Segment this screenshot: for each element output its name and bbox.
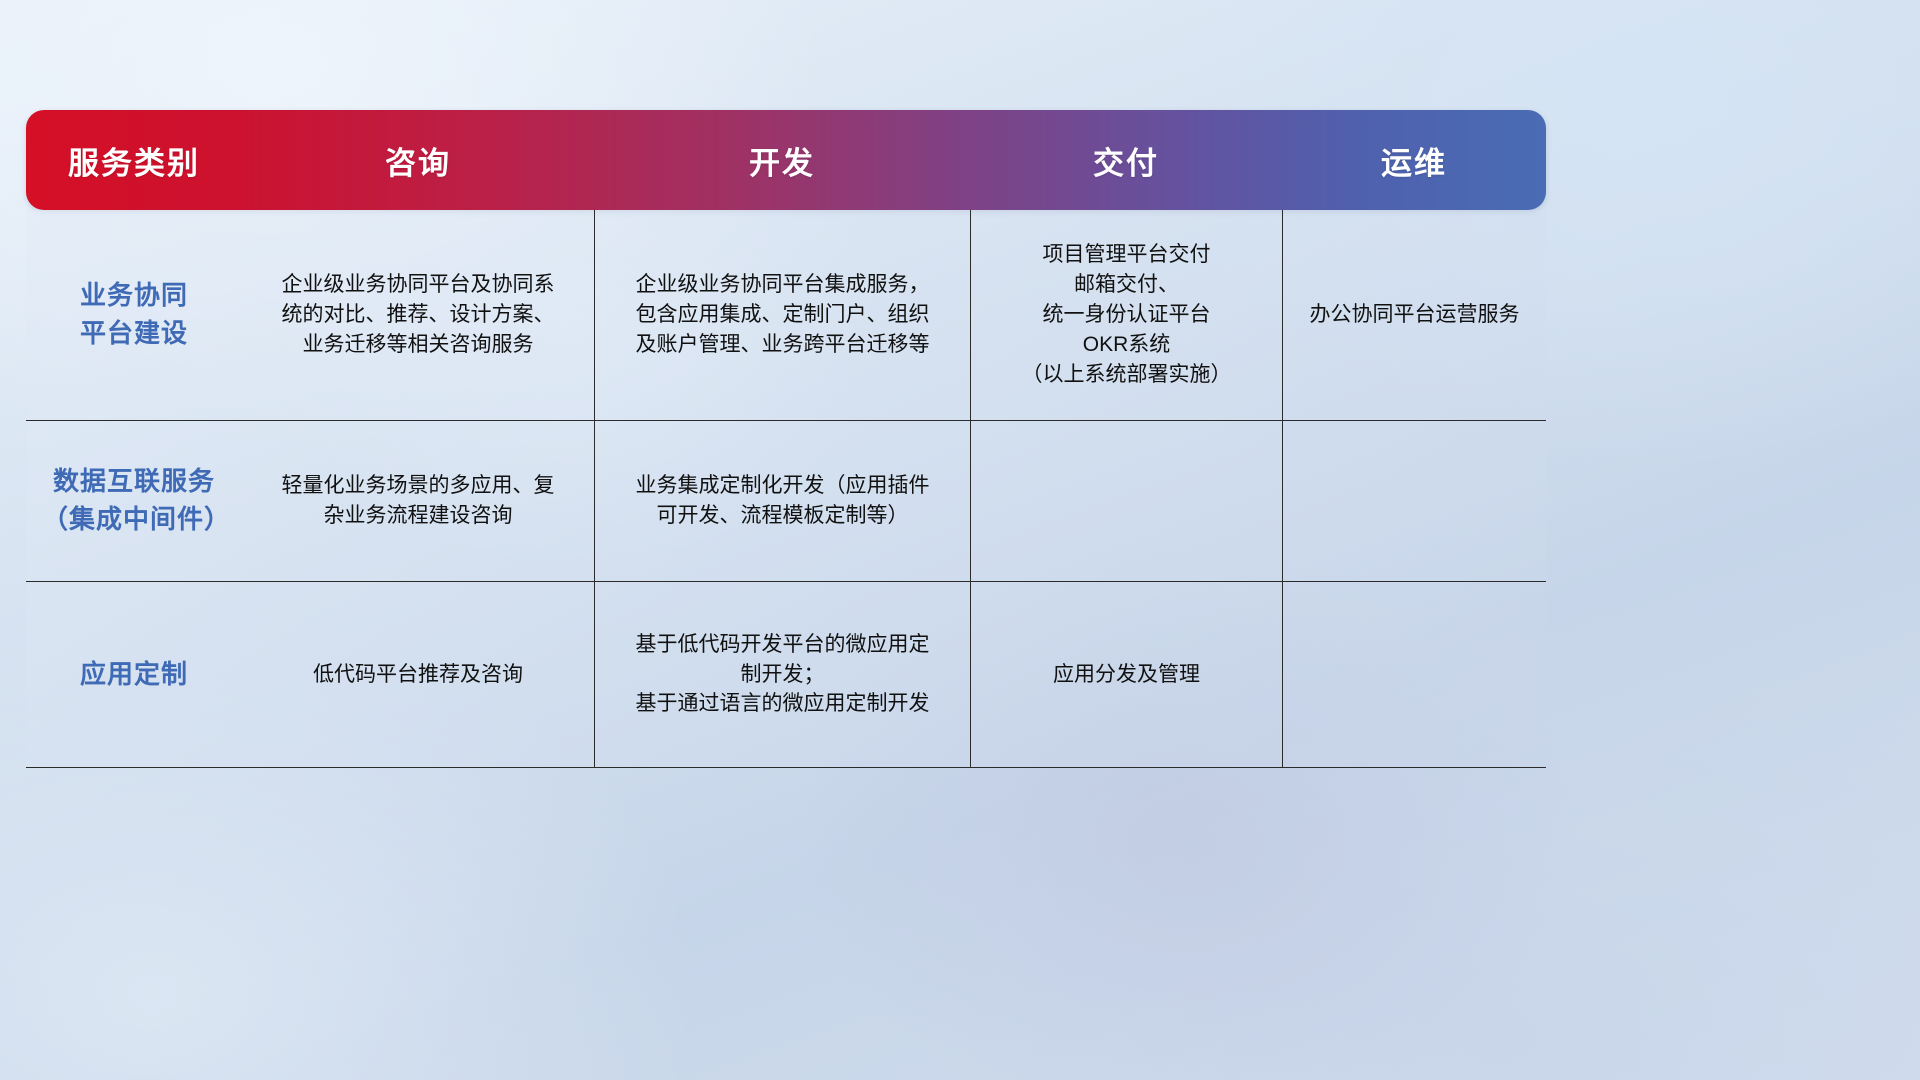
cell-consulting: 企业级业务协同平台及协同系 统的对比、推荐、设计方案、 业务迁移等相关咨询服务 xyxy=(242,210,594,420)
cell-category: 数据互联服务 （集成中间件） xyxy=(26,421,242,581)
column-header-consulting: 咨询 xyxy=(242,110,594,210)
column-header-development: 开发 xyxy=(594,110,970,210)
cell-operations: 办公协同平台运营服务 xyxy=(1282,210,1546,420)
cell-delivery: 应用分发及管理 xyxy=(970,582,1282,767)
cell-delivery: 项目管理平台交付 邮箱交付、 统一身份认证平台 OKR系统 （以上系统部署实施） xyxy=(970,210,1282,420)
table-row: 数据互联服务 （集成中间件） 轻量化业务场景的多应用、复 杂业务流程建设咨询 业… xyxy=(26,421,1546,582)
table-row: 应用定制 低代码平台推荐及咨询 基于低代码开发平台的微应用定 制开发； 基于通过… xyxy=(26,582,1546,768)
cell-operations xyxy=(1282,582,1546,767)
cell-development: 基于低代码开发平台的微应用定 制开发； 基于通过语言的微应用定制开发 xyxy=(594,582,970,767)
cell-development: 业务集成定制化开发（应用插件 可开发、流程模板定制等） xyxy=(594,421,970,581)
cell-consulting: 轻量化业务场景的多应用、复 杂业务流程建设咨询 xyxy=(242,421,594,581)
cell-consulting: 低代码平台推荐及咨询 xyxy=(242,582,594,767)
cell-category: 应用定制 xyxy=(26,582,242,767)
table-row: 业务协同 平台建设 企业级业务协同平台及协同系 统的对比、推荐、设计方案、 业务… xyxy=(26,210,1546,421)
table-header-row: 服务类别 咨询 开发 交付 运维 xyxy=(26,110,1546,210)
column-header-delivery: 交付 xyxy=(970,110,1282,210)
column-header-category: 服务类别 xyxy=(26,110,242,210)
cell-category: 业务协同 平台建设 xyxy=(26,210,242,420)
cell-operations xyxy=(1282,421,1546,581)
table-body: 业务协同 平台建设 企业级业务协同平台及协同系 统的对比、推荐、设计方案、 业务… xyxy=(26,210,1546,768)
cell-development: 企业级业务协同平台集成服务， 包含应用集成、定制门户、组织 及账户管理、业务跨平… xyxy=(594,210,970,420)
cell-delivery xyxy=(970,421,1282,581)
column-header-operations: 运维 xyxy=(1282,110,1546,210)
service-category-table: 服务类别 咨询 开发 交付 运维 业务协同 平台建设 企业级业务协同平台及协同系… xyxy=(26,110,1546,768)
